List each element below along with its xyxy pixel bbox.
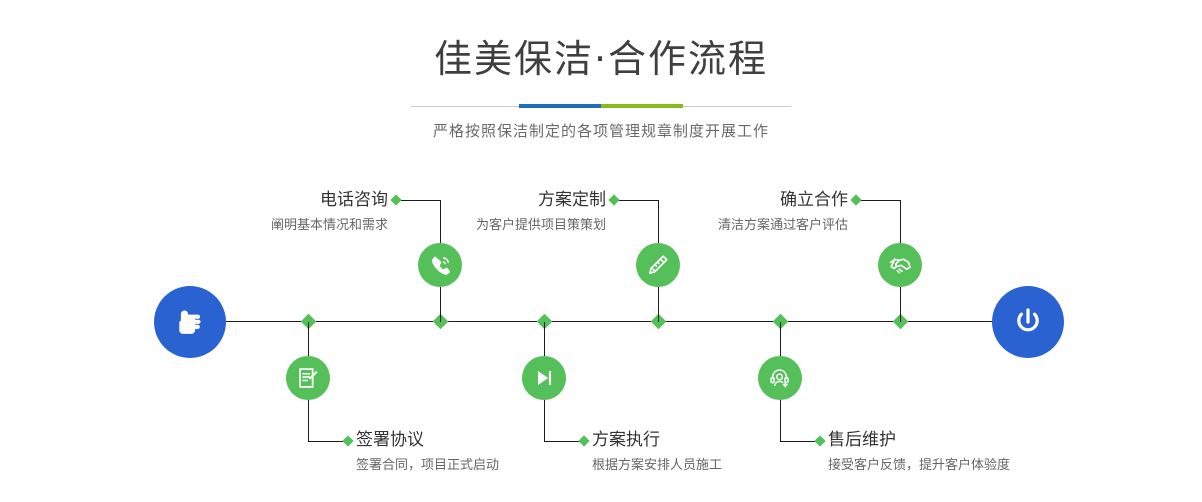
step-label-5: 确立合作 清洁方案通过客户评估 — [600, 192, 848, 232]
start-node — [154, 286, 226, 358]
divider-segment-blue — [519, 104, 601, 108]
connector-stem-4 — [544, 322, 545, 356]
label-connector-5 — [856, 200, 900, 201]
divider-segment-green — [601, 104, 683, 108]
step-desc-6: 接受客户反馈，提升客户体验度 — [828, 459, 1010, 472]
step-desc-5: 清洁方案通过客户评估 — [600, 219, 848, 232]
end-node — [992, 286, 1064, 358]
label-marker-5 — [850, 194, 861, 205]
label-stem-6 — [780, 400, 781, 441]
step-icon-circle-1 — [418, 243, 462, 287]
step-icon-circle-3 — [636, 243, 680, 287]
step-label-6: 售后维护 接受客户反馈，提升客户体验度 — [828, 432, 1010, 472]
label-stem-5 — [900, 200, 901, 243]
step-icon-circle-2 — [286, 356, 330, 400]
play-to-end-icon — [531, 365, 557, 391]
label-marker-6 — [814, 435, 825, 446]
connector-stem-6 — [780, 322, 781, 356]
step-desc-1: 阐明基本情况和需求 — [140, 219, 388, 232]
step-title-4: 方案执行 — [592, 432, 722, 449]
handshake-icon — [887, 252, 914, 279]
label-marker-4 — [578, 435, 589, 446]
step-label-4: 方案执行 根据方案安排人员施工 — [592, 432, 722, 472]
step-title-3: 方案定制 — [358, 192, 606, 209]
step-icon-circle-6 — [758, 356, 802, 400]
pencil-ruler-icon — [645, 252, 671, 278]
connector-stem-5 — [900, 287, 901, 322]
step-icon-circle-5 — [878, 243, 922, 287]
step-title-1: 电话咨询 — [140, 192, 388, 209]
label-marker-2 — [342, 435, 353, 446]
connector-stem-3 — [658, 287, 659, 322]
step-label-3: 方案定制 为客户提供项目策策划 — [358, 192, 606, 232]
process-flow-infographic: 佳美保洁·合作流程 严格按照保洁制定的各项管理规章制度开展工作 — [0, 0, 1202, 502]
step-title-2: 签署协议 — [356, 432, 499, 449]
document-edit-icon — [295, 365, 321, 391]
step-label-2: 签署协议 签署合同，项目正式启动 — [356, 432, 499, 472]
label-stem-4 — [544, 400, 545, 441]
step-title-5: 确立合作 — [600, 192, 848, 209]
step-label-1: 电话咨询 阐明基本情况和需求 — [140, 192, 388, 232]
connector-stem-1 — [440, 287, 441, 322]
step-desc-2: 签署合同，项目正式启动 — [356, 459, 499, 472]
header: 佳美保洁·合作流程 严格按照保洁制定的各项管理规章制度开展工作 — [0, 0, 1202, 141]
step-desc-4: 根据方案安排人员施工 — [592, 459, 722, 472]
pointing-hand-icon — [170, 302, 210, 342]
title-divider — [411, 104, 791, 108]
step-icon-circle-4 — [522, 356, 566, 400]
step-desc-3: 为客户提供项目策策划 — [358, 219, 606, 232]
connector-stem-2 — [308, 322, 309, 356]
power-button-icon — [1009, 303, 1047, 341]
label-stem-2 — [308, 400, 309, 441]
headset-support-icon — [767, 365, 793, 391]
page-subtitle: 严格按照保洁制定的各项管理规章制度开展工作 — [0, 120, 1202, 141]
page-title: 佳美保洁·合作流程 — [0, 40, 1202, 78]
step-title-6: 售后维护 — [828, 432, 1010, 449]
phone-call-icon — [427, 252, 454, 279]
